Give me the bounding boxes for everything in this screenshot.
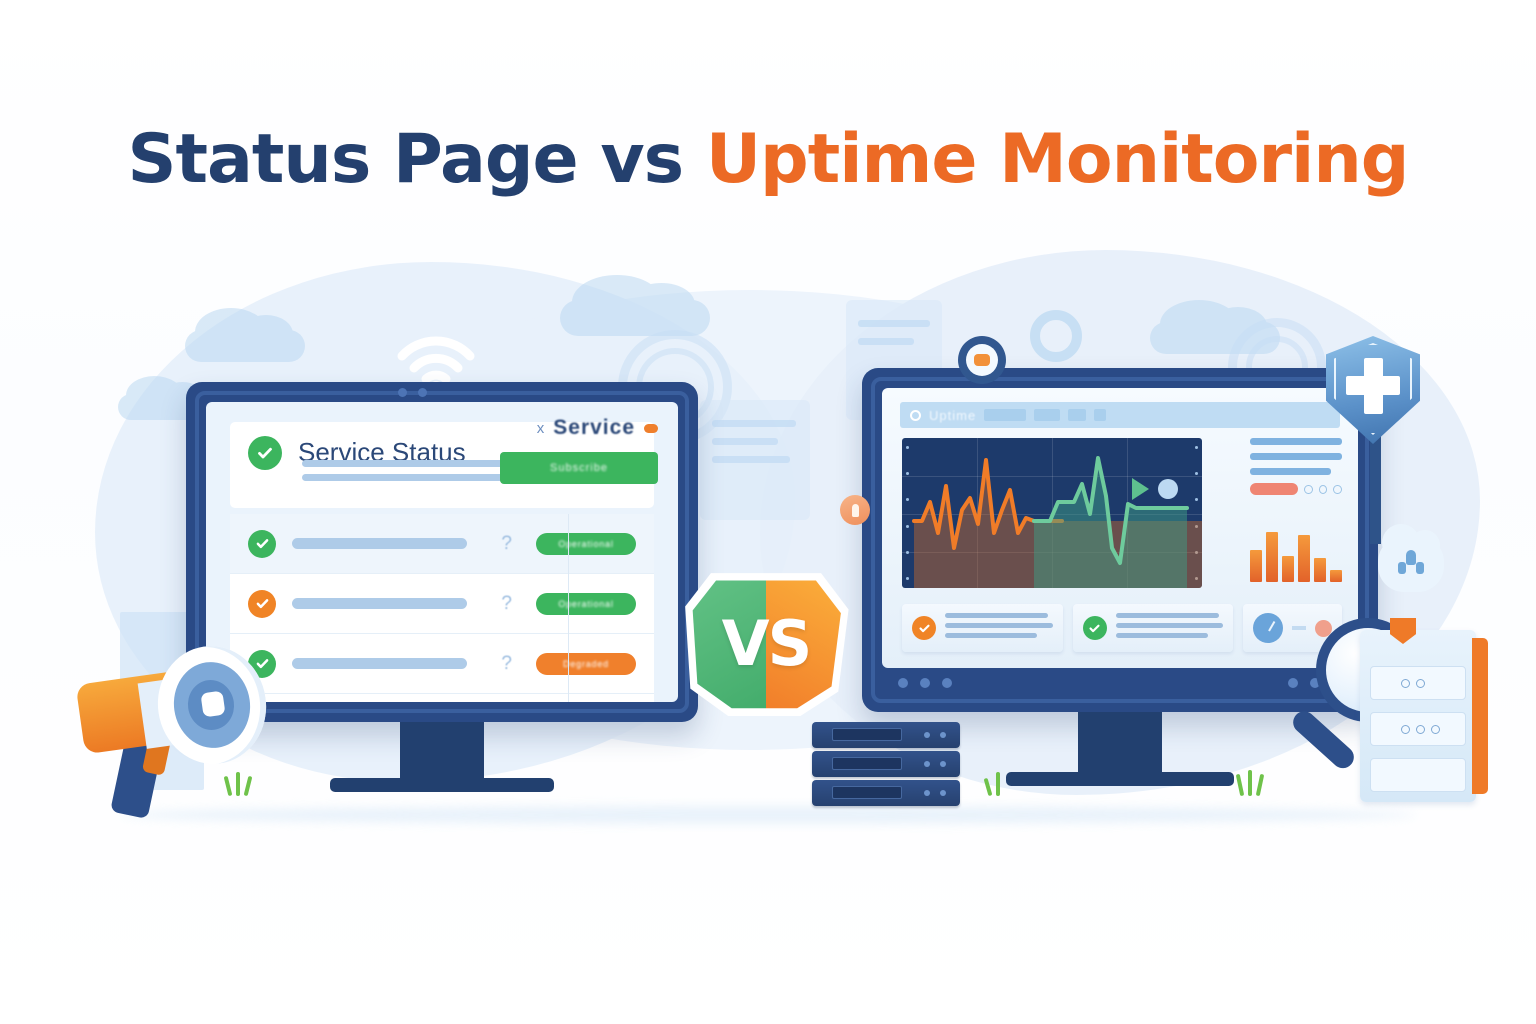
monitor-status-cards [902,604,1342,652]
right-monitor-base [1006,772,1234,786]
gear-decoration-icon [1030,310,1082,362]
illustration-canvas: Status Page vs Uptime Monitoring Service… [0,0,1536,1024]
grass-decoration [236,772,240,796]
cloud-rocket-icon [1378,536,1444,592]
table-row[interactable]: ? Operational [230,574,654,634]
brand-name: Service [553,416,635,440]
check-circle-orange-icon [248,590,276,618]
left-monitor-neck [400,722,484,784]
check-circle-green-icon [248,436,282,470]
grass-decoration [1248,770,1252,796]
bar [1314,558,1326,582]
gear-badge-icon [958,336,1006,384]
globe-icon [910,410,921,421]
decor-line-4 [858,320,930,327]
check-circle-orange-icon [912,616,936,640]
status-badge: Operational [536,593,636,615]
right-monitor-indicators [898,678,952,688]
sidebar-ring-icon [1304,485,1313,494]
status-card-ok[interactable] [1073,604,1234,652]
row-value: ? [501,653,512,675]
decor-line-5 [858,338,914,345]
vs-badge: VS [680,567,852,719]
check-circle-green-icon [248,530,276,558]
status-badge: Degraded [536,653,636,675]
left-monitor-camera [398,388,407,397]
card-text-lines [1116,613,1224,643]
address-bar[interactable]: Uptime [900,402,1340,428]
address-bar-segment [1068,409,1086,421]
left-monitor-led [418,388,427,397]
right-monitor-neck [1078,712,1162,778]
play-triangle-icon [1132,478,1149,500]
chart-sidebar [1250,438,1342,495]
address-bar-text: Uptime [929,408,976,423]
sidebar-ring-icon [1333,485,1342,494]
sidebar-ring-icon [1319,485,1328,494]
row-label-skeleton [292,598,467,609]
row-label-skeleton [292,538,467,549]
ground-shadow [120,806,1416,824]
check-circle-green-icon [1083,616,1107,640]
bar [1266,532,1278,582]
title-part-primary: Status Page vs [128,120,706,199]
service-brand-logo: x Service [537,416,658,440]
brand-x-mark: x [537,420,545,437]
sidebar-line [1250,468,1331,475]
row-value: ? [501,533,512,555]
card-text-lines [945,613,1053,643]
shield-cross-icon [1326,336,1420,444]
status-badge-label: Degraded [563,659,609,669]
sidebar-bar-chart [1250,520,1342,582]
chart-marker-dot [1158,479,1178,499]
bar [1250,550,1262,582]
column-divider [568,514,569,702]
status-badge-label: Operational [558,599,613,609]
address-bar-segment [1034,409,1060,421]
decor-cloud-1 [185,330,305,362]
decor-line-2 [712,438,778,445]
table-row[interactable]: ? Operational [230,514,654,574]
chart-series [902,438,1202,588]
decor-line-1 [712,420,796,427]
grass-decoration [1236,774,1244,796]
page-title: Status Page vs Uptime Monitoring [0,120,1536,199]
server-rack-icon [1360,630,1476,802]
sidebar-status-pill [1250,483,1298,495]
megaphone-icon [62,640,312,815]
bar [1282,556,1294,582]
bar [1298,535,1310,582]
uptime-chart [902,438,1202,588]
vs-badge-label: VS [680,567,852,719]
server-stack-icon [812,722,960,806]
brand-dot-icon [644,424,658,433]
status-badge-label: Operational [558,539,613,549]
grass-decoration [996,772,1000,796]
row-value: ? [501,593,512,615]
status-badge: Operational [536,533,636,555]
title-part-accent: Uptime Monitoring [706,120,1409,199]
grass-decoration [1256,774,1264,796]
bar [1330,570,1342,582]
row-label-skeleton [292,658,467,669]
address-bar-segment [1094,409,1106,421]
lock-badge-icon [840,495,870,525]
status-card-warning[interactable] [902,604,1063,652]
decor-line-3 [712,456,790,463]
sidebar-line [1250,453,1342,460]
right-screen: Uptime [882,388,1358,668]
subscribe-button-label: Subscribe [550,462,608,474]
left-monitor-base [330,778,554,792]
subscribe-button[interactable]: Subscribe [500,452,658,484]
shield-pole [1370,432,1381,544]
address-bar-segment [984,409,1026,421]
gauge-icon [1253,613,1283,643]
